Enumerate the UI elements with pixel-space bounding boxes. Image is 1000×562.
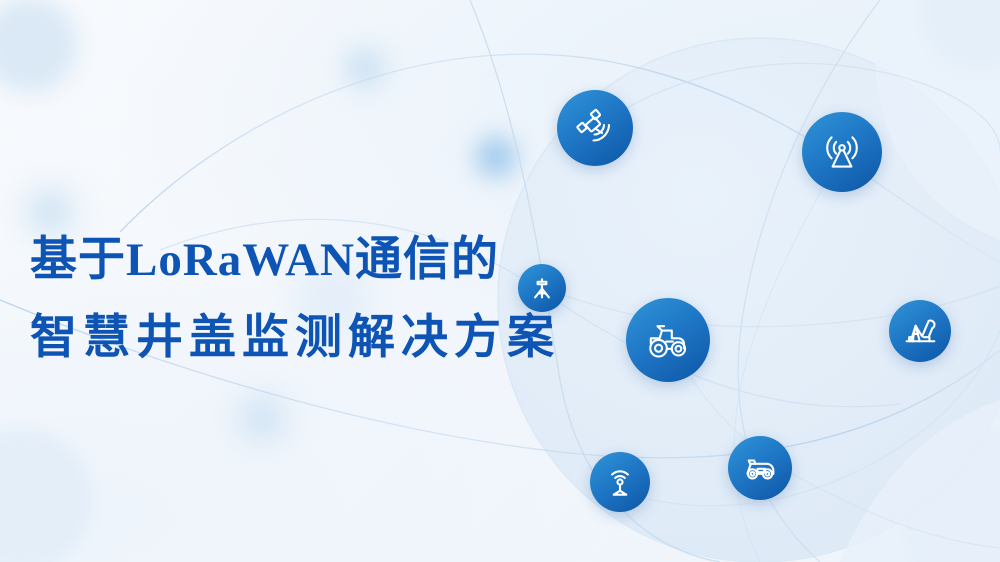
node-radio-tower[interactable] <box>802 112 882 192</box>
node-tractor[interactable] <box>626 298 710 382</box>
satellite-icon <box>571 104 619 152</box>
node-oil-pumpjack[interactable] <box>889 300 951 362</box>
title-line-1: 基于LoRaWAN通信的 <box>30 228 590 292</box>
oil-pumpjack-icon <box>901 312 940 351</box>
lawn-mower-icon <box>740 448 780 488</box>
tractor-icon <box>642 314 695 367</box>
node-signal-antenna[interactable] <box>590 452 650 512</box>
node-lawn-mower[interactable] <box>728 436 792 500</box>
radio-tower-icon <box>817 127 867 177</box>
signal-antenna-icon <box>601 463 639 501</box>
title-line-2: 智慧井盖监测解决方案 <box>30 306 590 370</box>
slide-canvas: 基于LoRaWAN通信的 智慧井盖监测解决方案 <box>0 0 1000 562</box>
page-title: 基于LoRaWAN通信的 智慧井盖监测解决方案 <box>30 228 590 370</box>
node-satellite[interactable] <box>557 90 633 166</box>
